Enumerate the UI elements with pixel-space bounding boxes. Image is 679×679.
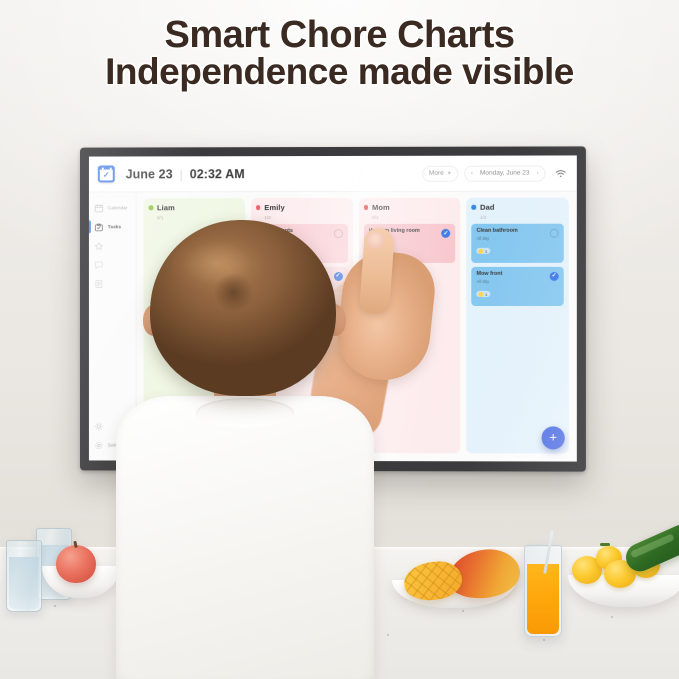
column-dad-name: Dad <box>480 203 495 212</box>
datetime-separator: | <box>180 167 183 181</box>
task-title: Clean bathroom <box>477 228 546 235</box>
chevron-down-icon: ▾ <box>448 170 451 177</box>
column-liam-name: Liam <box>157 203 175 212</box>
column-emily-dot <box>256 205 260 210</box>
brightness-icon <box>94 421 104 431</box>
task-card[interactable]: Water plants All day 1 <box>256 224 348 263</box>
task-subtitle: All day <box>261 236 330 241</box>
apple <box>56 545 96 583</box>
task-points-badge: 1 <box>261 249 275 255</box>
task-points-value: 1 <box>269 249 271 254</box>
chore-chart-app: ✓ June 23 | 02:32 AM More ▾ ‹ Monda <box>89 155 577 461</box>
notes-icon <box>94 279 104 289</box>
headline: Smart Chore Charts Independence made vis… <box>0 16 679 90</box>
tasks-icon <box>94 222 104 232</box>
column-mom-progress: 0/1 <box>372 215 455 220</box>
sidebar-item-calendar-label: Calendar <box>108 205 128 210</box>
date-label: June 23 <box>126 167 173 181</box>
orange-juice-glass <box>524 545 562 637</box>
column-mom[interactable]: Mom 0/1 Vacuum living room All day 1 <box>359 198 461 453</box>
glass-water <box>9 557 39 609</box>
tomato-stem <box>600 543 610 546</box>
add-task-button[interactable]: + <box>542 426 565 449</box>
chevron-left-icon[interactable]: ‹ <box>471 170 473 176</box>
column-liam[interactable]: Liam 0/1 <box>144 198 245 453</box>
column-liam-progress: 0/1 <box>157 215 240 220</box>
star-badge-icon <box>370 249 375 254</box>
sidebar-item-tasks-label: Tasks <box>108 224 121 229</box>
column-liam-dot <box>149 206 153 210</box>
sidebar-spacer <box>89 293 136 417</box>
app-body: Calendar Tasks <box>89 192 577 462</box>
task-card-main <box>261 271 330 273</box>
task-card-main: Vacuum living room All day 1 <box>369 228 438 259</box>
task-card-main: Mow front All day 1 <box>477 271 546 302</box>
headline-line-2: Independence made visible <box>0 53 679 91</box>
task-title: Water plants <box>261 228 330 235</box>
sidebar-item-brightness[interactable] <box>89 417 136 436</box>
task-subtitle: All day <box>477 236 546 241</box>
column-mom-dot <box>364 205 369 210</box>
tasks-board: Liam 0/1 Emily 1/2 <box>137 192 577 462</box>
calendar-icon <box>94 203 104 213</box>
column-emily-progress: 1/2 <box>264 215 347 220</box>
chevron-right-icon[interactable]: › <box>537 170 539 176</box>
task-card[interactable]: Vacuum living room All day 1 ✓ <box>364 224 456 263</box>
calendar-check-icon: ✓ <box>98 165 115 182</box>
column-emily-name: Emily <box>264 203 284 212</box>
app-sidebar: Calendar Tasks <box>89 192 137 460</box>
water-glass-front <box>6 540 42 612</box>
column-mom-header: Mom <box>364 203 456 212</box>
task-points-value: 1 <box>485 249 487 254</box>
screenshot-stage: Smart Chore Charts Independence made vis… <box>0 0 679 679</box>
task-points-badge: 1 <box>369 248 383 254</box>
wifi-icon <box>555 168 567 178</box>
sidebar-item-settings-label: Settings <box>108 443 126 448</box>
more-label: More <box>429 170 444 177</box>
star-badge-icon <box>478 292 483 297</box>
task-card-main: Water plants All day 1 <box>261 228 330 259</box>
column-dad-progress: 1/2 <box>480 215 564 220</box>
chat-icon <box>94 260 104 270</box>
star-icon <box>94 241 104 251</box>
column-liam-header: Liam <box>149 203 240 212</box>
more-dropdown[interactable]: More ▾ <box>422 165 458 181</box>
task-checkbox[interactable] <box>333 229 342 238</box>
sidebar-item-settings[interactable]: Settings <box>89 436 136 455</box>
time-label: 02:32 AM <box>190 167 245 181</box>
datetime-display: June 23 | 02:32 AM <box>126 167 245 181</box>
current-day-label: Monday, June 23 <box>480 170 530 177</box>
star-badge-icon <box>262 249 267 254</box>
task-points-badge: 1 <box>477 291 491 297</box>
column-dad-header: Dad <box>472 203 564 212</box>
juice-liquid <box>527 564 559 634</box>
task-card[interactable]: ✓ <box>256 267 348 292</box>
sidebar-item-tasks[interactable]: Tasks <box>89 217 136 236</box>
task-subtitle: All day <box>477 279 546 284</box>
column-emily[interactable]: Emily 1/2 Water plants All day 1 <box>251 198 353 453</box>
column-dad[interactable]: Dad 1/2 Clean bathroom All day 1 <box>466 198 568 454</box>
task-title: Mow front <box>477 271 546 278</box>
task-card[interactable]: Mow front All day 1 ✓ <box>472 267 564 306</box>
gear-icon <box>94 440 104 450</box>
column-mom-name: Mom <box>372 203 390 212</box>
sidebar-item-rewards[interactable] <box>89 236 136 255</box>
task-points-value: 1 <box>377 249 379 254</box>
task-title: Vacuum living room <box>369 228 438 235</box>
headline-line-1: Smart Chore Charts <box>0 16 679 55</box>
task-subtitle: All day <box>369 236 438 241</box>
task-checkbox[interactable] <box>550 229 559 238</box>
task-points-badge: 1 <box>477 248 491 254</box>
star-badge-icon <box>478 249 483 254</box>
task-checkbox[interactable]: ✓ <box>550 272 559 281</box>
sidebar-item-chat[interactable] <box>89 255 136 274</box>
column-dad-dot <box>472 205 477 210</box>
task-points-value: 1 <box>485 292 487 297</box>
tv-screen: ✓ June 23 | 02:32 AM More ▾ ‹ Monda <box>89 155 577 461</box>
column-emily-header: Emily <box>256 203 348 212</box>
task-card[interactable]: Clean bathroom All day 1 <box>472 224 564 263</box>
app-topbar: ✓ June 23 | 02:32 AM More ▾ ‹ Monda <box>89 155 577 192</box>
task-checkbox[interactable]: ✓ <box>333 272 342 281</box>
sidebar-item-calendar[interactable]: Calendar <box>89 198 136 217</box>
task-checkbox[interactable]: ✓ <box>441 229 450 238</box>
task-card-main: Clean bathroom All day 1 <box>477 228 546 259</box>
sidebar-item-notes[interactable] <box>89 274 136 293</box>
smart-display-tv: ✓ June 23 | 02:32 AM More ▾ ‹ Monda <box>80 146 586 471</box>
date-navigator[interactable]: ‹ Monday, June 23 › <box>464 165 546 181</box>
